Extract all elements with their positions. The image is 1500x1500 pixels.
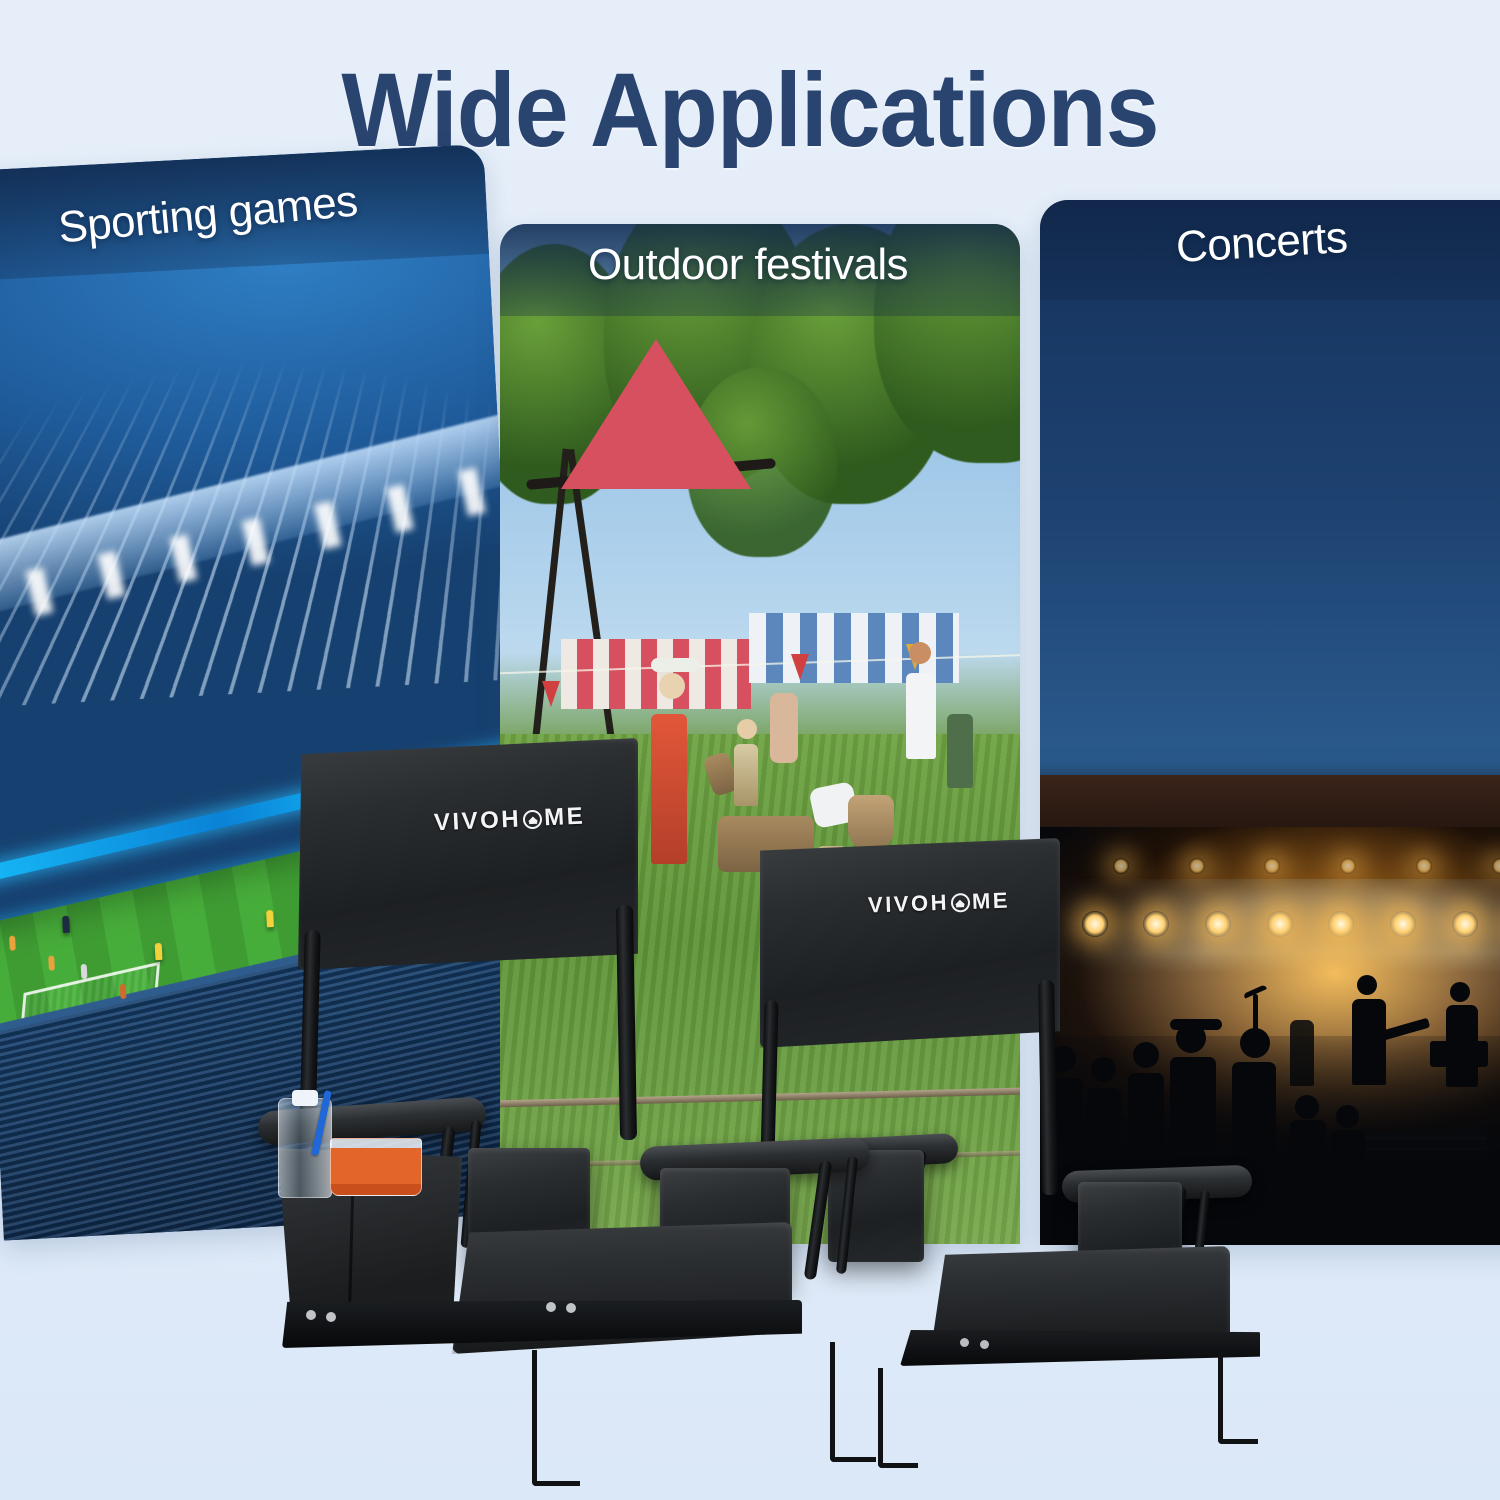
player-figure xyxy=(266,910,274,927)
bunting-flag xyxy=(791,654,809,680)
child-head xyxy=(737,719,757,739)
stage-light-icon xyxy=(1143,911,1169,937)
audience-silhouette xyxy=(1128,1073,1164,1197)
bleacher-hook xyxy=(1218,1352,1258,1444)
stage-light-icon xyxy=(1328,911,1354,937)
panel-concerts xyxy=(1040,200,1500,1245)
player-figure xyxy=(62,916,70,933)
wooden-horse xyxy=(718,816,814,872)
stage-light-icon xyxy=(1340,858,1356,874)
audience-silhouette xyxy=(1170,1057,1216,1189)
audience-silhouette xyxy=(1045,1078,1083,1198)
base-rivet xyxy=(306,1310,316,1320)
base-rivet xyxy=(546,1302,556,1312)
bleacher-hook xyxy=(830,1342,876,1462)
stage-light-icon xyxy=(1267,911,1293,937)
adult-figure-legs xyxy=(817,846,847,926)
spectator-figure xyxy=(81,964,88,979)
audience-silhouette xyxy=(1232,1062,1276,1192)
stage-light-icon xyxy=(1492,858,1500,874)
stage-light-bar xyxy=(1082,911,1500,935)
stage-light-icon xyxy=(1205,911,1231,937)
child-figure xyxy=(734,744,758,806)
performer-head xyxy=(1450,982,1470,1002)
person-figure xyxy=(906,673,936,759)
stage-light-bar-upper xyxy=(1113,858,1500,882)
audience-head xyxy=(1295,1095,1319,1119)
page-title: Wide Applications xyxy=(60,58,1440,163)
base-rivet xyxy=(326,1312,336,1322)
chair-base-plate xyxy=(282,1300,802,1348)
sun-hat xyxy=(651,658,699,672)
shoulder-bag xyxy=(848,795,894,851)
base-rivet xyxy=(980,1340,989,1349)
stage-light-icon xyxy=(1416,858,1432,874)
base-rivet xyxy=(960,1338,969,1347)
audience-silhouette xyxy=(1331,1130,1365,1216)
spectator-figure xyxy=(119,983,126,998)
person-figure xyxy=(947,714,973,788)
person-figure xyxy=(651,714,687,864)
base-rivet xyxy=(566,1303,576,1313)
audience-silhouette xyxy=(1290,1120,1326,1210)
stage-light-icon xyxy=(1452,911,1478,937)
player-figure xyxy=(155,943,163,960)
festival-grass xyxy=(500,734,1020,1244)
audience-head xyxy=(1091,1057,1116,1082)
person-head xyxy=(659,673,685,699)
spectator-figure xyxy=(48,955,55,970)
stage-light-icon xyxy=(1082,911,1108,937)
stage-light-icon xyxy=(1113,858,1129,874)
bleacher-hook xyxy=(532,1350,580,1486)
stage-light-icon xyxy=(1390,911,1416,937)
panel-label-concerts: Concerts xyxy=(1175,213,1349,273)
audience-silhouette xyxy=(1087,1088,1121,1204)
bleacher-hook xyxy=(878,1368,918,1468)
person-head xyxy=(909,642,931,664)
panel-label-outdoor-festivals: Outdoor festivals xyxy=(588,240,908,290)
chair-base-plate xyxy=(900,1330,1260,1366)
stage-light-icon xyxy=(1264,858,1280,874)
marketing-graphic: Wide Applications Sporting games xyxy=(0,0,1500,1500)
stage-light-icon xyxy=(1189,858,1205,874)
person-figure xyxy=(770,693,798,763)
audience-head xyxy=(1240,1028,1270,1058)
audience-head xyxy=(1133,1042,1159,1068)
panel-outdoor-festivals xyxy=(500,224,1020,1244)
cap-icon xyxy=(1170,1019,1222,1030)
seat-cushion xyxy=(930,1246,1230,1356)
bunting-flag xyxy=(542,681,560,707)
panel-sporting-games xyxy=(0,144,539,1241)
